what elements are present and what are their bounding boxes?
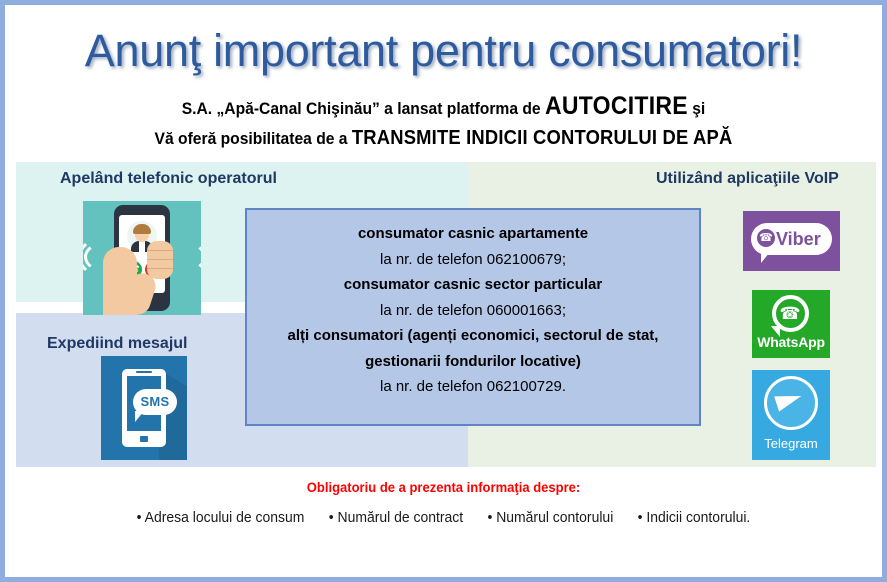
- info-line: consumator casnic apartamente: [247, 221, 699, 247]
- info-line: gestionarii fondurilor locative): [247, 349, 699, 375]
- speech-bubble-icon: SMS: [133, 389, 177, 415]
- sms-label: SMS: [133, 389, 177, 415]
- list-item: • Adresa locului de consum: [137, 509, 305, 526]
- phone-numbers-info-box: consumator casnic apartamente la nr. de …: [245, 208, 701, 426]
- subtitle-1-pre: S.A. „Apă-Canal Chişinău” a lansat platf…: [182, 99, 545, 118]
- sms-illustration-icon: SMS: [101, 356, 187, 460]
- caller-hair: [133, 224, 151, 234]
- subtitle-1-post: şi: [688, 99, 705, 118]
- list-item: • Numărul contorului: [487, 509, 613, 526]
- list-item: • Indicii contorului.: [638, 509, 751, 526]
- info-line: la nr. de telefon 062100679;: [247, 247, 699, 273]
- info-line: alți consumatori (agenți economici, sect…: [247, 323, 699, 349]
- viber-label: Viber: [776, 223, 828, 255]
- telegram-logo-icon[interactable]: Telegram: [752, 370, 830, 460]
- section-heading-call: Apelând telefonic operatorul: [60, 170, 277, 188]
- caller-shirt: [139, 241, 145, 252]
- section-heading-voip: Utilizând aplicaţiile VoIP: [656, 170, 839, 188]
- whatsapp-label: WhatsApp: [752, 334, 830, 350]
- subtitle-2-pre: Vă oferă posibilitatea de a: [155, 129, 352, 148]
- whatsapp-logo-icon[interactable]: ☎ WhatsApp: [752, 290, 830, 358]
- announcement-slide: Anunţ important pentru consumatori! S.A.…: [0, 0, 887, 582]
- info-line: la nr. de telefon 062100729.: [247, 374, 699, 400]
- phone-speaker: [136, 371, 152, 373]
- footer-requirements-list: • Adresa locului de consum • Numărul de …: [36, 509, 852, 526]
- list-item: • Numărul de contract: [329, 509, 463, 526]
- section-heading-sms: Expediind mesajul: [47, 335, 187, 353]
- viber-logo-icon[interactable]: ☎ Viber: [743, 211, 840, 271]
- info-line: la nr. de telefon 060001663;: [247, 298, 699, 324]
- phone-home-button: [140, 436, 148, 442]
- subtitle-1-highlight: AUTOCITIRE: [545, 92, 688, 120]
- phone-handset-icon: ☎: [777, 301, 803, 327]
- subtitle-line-2: Vă oferă posibilitatea de a TRANSMITE IN…: [40, 127, 847, 150]
- phone-call-illustration-icon: ☎ ☎: [83, 201, 201, 315]
- info-line: consumator casnic sector particular: [247, 272, 699, 298]
- telegram-label: Telegram: [752, 436, 830, 451]
- page-title: Anunţ important pentru consumatori!: [5, 25, 882, 77]
- subtitle-2-highlight: TRANSMITE INDICII CONTORULUI DE APĂ: [352, 127, 733, 149]
- fist-icon: [147, 241, 173, 279]
- phone-handset-icon: ☎: [757, 229, 775, 247]
- footer-heading: Obligatoriu de a prezenta informaţia des…: [36, 479, 852, 495]
- subtitle-line-1: S.A. „Apă-Canal Chişinău” a lansat platf…: [40, 92, 847, 121]
